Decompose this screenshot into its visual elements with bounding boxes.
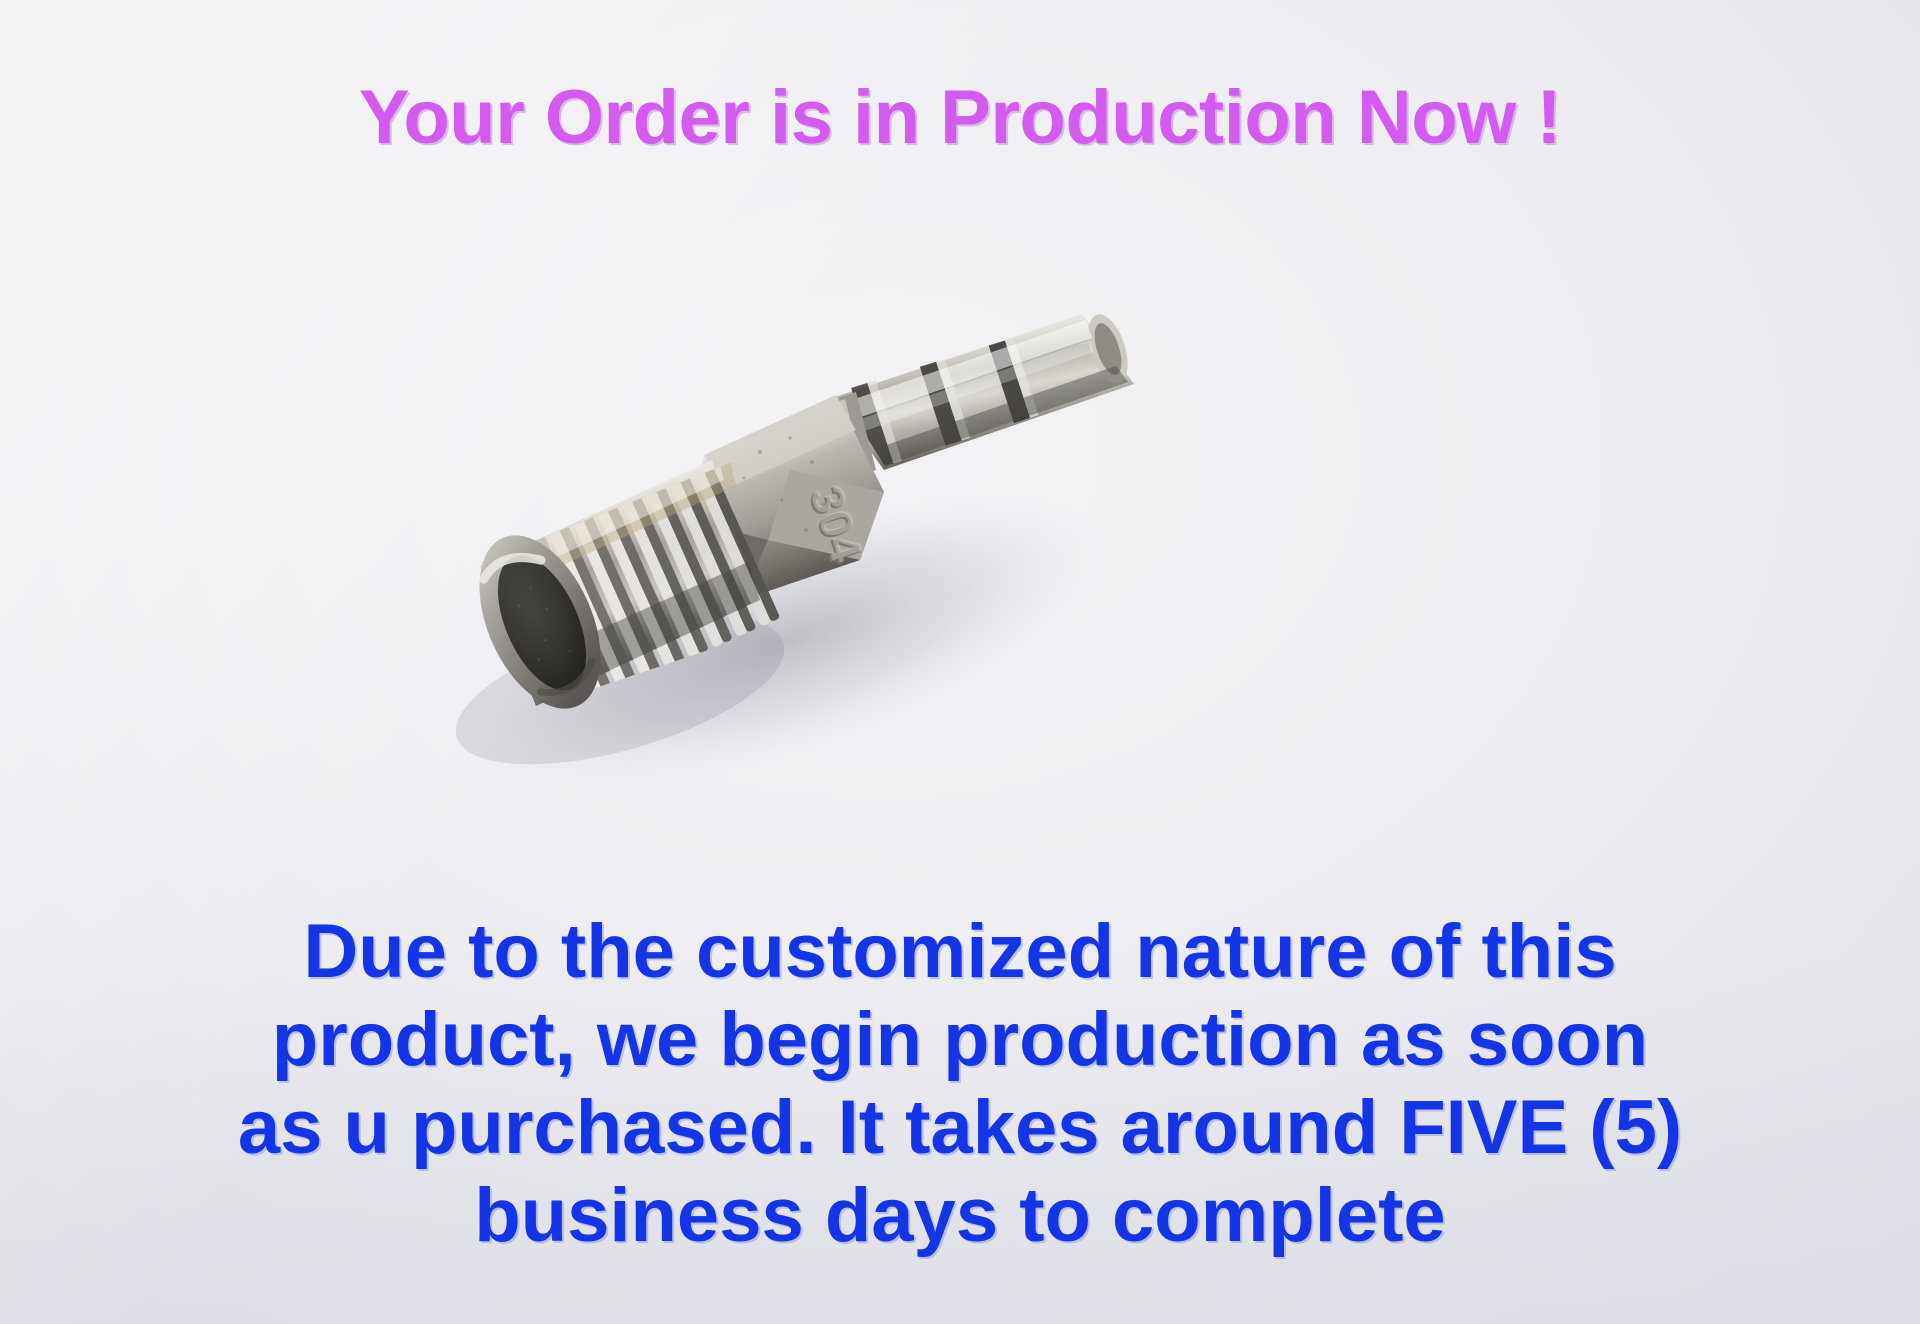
notice-line-1: Due to the customized nature of this <box>0 908 1920 996</box>
production-notice: Due to the customized nature of this pro… <box>0 908 1920 1261</box>
page-title: Your Order is in Production Now ! <box>0 78 1920 158</box>
notice-line-4: business days to complete <box>0 1172 1920 1260</box>
notice-line-3: as u purchased. It takes around FIVE (5) <box>0 1084 1920 1172</box>
promo-banner: 304 304 <box>0 0 1920 1324</box>
material-stamp: 304 <box>799 481 872 570</box>
hose-barb-fitting: 304 304 <box>438 310 1135 733</box>
svg-text:304: 304 <box>801 479 874 568</box>
notice-line-2: product, we begin production as soon <box>0 996 1920 1084</box>
